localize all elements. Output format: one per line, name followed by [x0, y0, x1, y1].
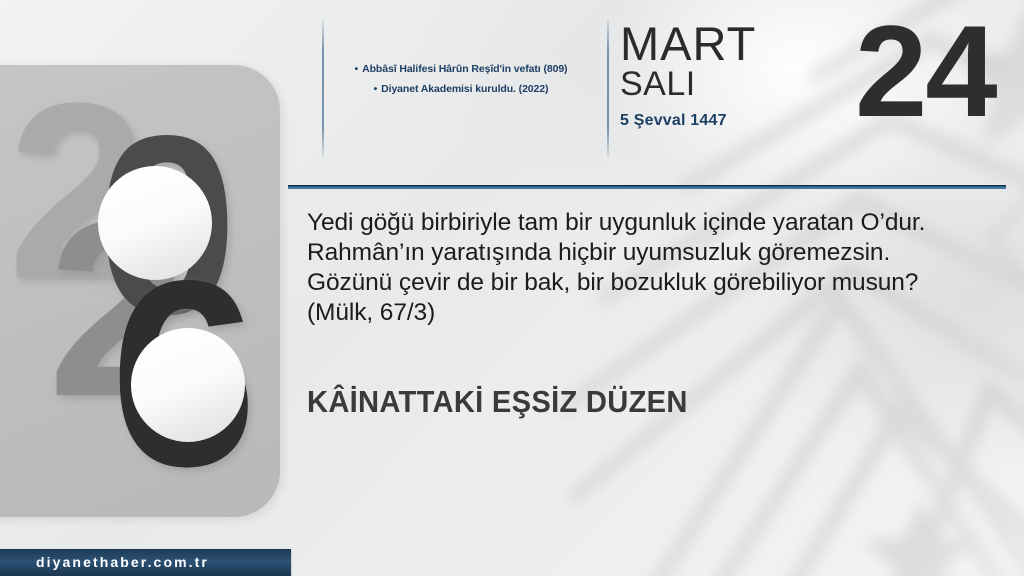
day-number: 24	[855, 6, 996, 136]
event-item: •Diyanet Akademisi kuruldu. (2022)	[330, 82, 592, 97]
date-block: MART SALI 5 Şevval 1447	[620, 22, 840, 130]
horizontal-divider	[288, 185, 1006, 189]
year-logo-panel: 2 2 0 6	[0, 65, 280, 517]
historical-events-list: •Abbâsî Halifesi Hârûn Reşîd'in vefatı (…	[330, 62, 592, 102]
bullet-icon: •	[374, 83, 378, 95]
page-title: KÂİNATTAKİ EŞSİZ DÜZEN	[307, 386, 688, 417]
month-label: MART	[620, 22, 840, 65]
bullet-icon: •	[355, 63, 359, 75]
calendar-page: 2 2 0 6	[0, 0, 1024, 576]
year-2026-logo: 2 2 0 6	[0, 65, 280, 517]
event-text: Abbâsî Halifesi Hârûn Reşîd'in vefatı (8…	[362, 63, 567, 75]
quote-text: Yedi göğü birbiriyle tam bir uygunluk iç…	[307, 208, 927, 328]
event-item: •Abbâsî Halifesi Hârûn Reşîd'in vefatı (…	[330, 62, 592, 77]
vertical-divider-left	[322, 20, 324, 158]
footer-banner: diyanethaber.com.tr	[0, 549, 291, 576]
hijri-date-label: 5 Şevval 1447	[620, 112, 840, 130]
weekday-label: SALI	[620, 67, 840, 103]
vertical-divider-right	[607, 20, 609, 158]
event-text: Diyanet Akademisi kuruldu. (2022)	[381, 83, 548, 95]
site-url-label: diyanethaber.com.tr	[36, 549, 209, 576]
